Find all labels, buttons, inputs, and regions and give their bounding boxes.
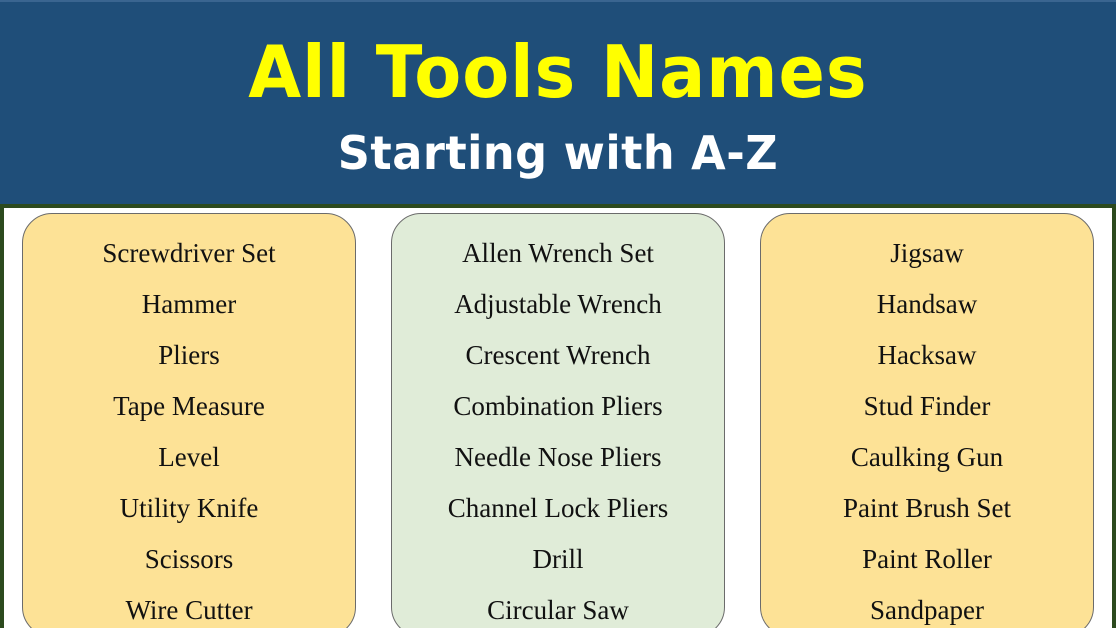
list-item: Circular Saw: [392, 585, 724, 628]
list-item: Allen Wrench Set: [392, 228, 724, 279]
list-item: Handsaw: [761, 279, 1093, 330]
list-item: Stud Finder: [761, 381, 1093, 432]
tools-column-1: Screwdriver Set Hammer Pliers Tape Measu…: [22, 213, 356, 628]
list-item: Sandpaper: [761, 585, 1093, 628]
poster-header: All Tools Names Starting with A-Z: [0, 0, 1116, 208]
page-title: All Tools Names: [248, 36, 867, 108]
list-item: Paint Roller: [761, 534, 1093, 585]
list-item: Tape Measure: [23, 381, 355, 432]
list-item: Needle Nose Pliers: [392, 432, 724, 483]
list-item: Drill: [392, 534, 724, 585]
list-item: Jigsaw: [761, 228, 1093, 279]
list-item: Combination Pliers: [392, 381, 724, 432]
list-item: Crescent Wrench: [392, 330, 724, 381]
columns-container: Screwdriver Set Hammer Pliers Tape Measu…: [0, 208, 1116, 628]
list-item: Wire Cutter: [23, 585, 355, 628]
tools-column-3: Jigsaw Handsaw Hacksaw Stud Finder Caulk…: [760, 213, 1094, 628]
list-item: Utility Knife: [23, 483, 355, 534]
list-item: Screwdriver Set: [23, 228, 355, 279]
tools-column-2: Allen Wrench Set Adjustable Wrench Cresc…: [391, 213, 725, 628]
list-item: Caulking Gun: [761, 432, 1093, 483]
list-item: Level: [23, 432, 355, 483]
list-item: Hacksaw: [761, 330, 1093, 381]
list-item: Scissors: [23, 534, 355, 585]
page-subtitle: Starting with A-Z: [338, 130, 778, 176]
tools-names-poster: All Tools Names Starting with A-Z Screwd…: [0, 0, 1116, 628]
list-item: Channel Lock Pliers: [392, 483, 724, 534]
list-item: Paint Brush Set: [761, 483, 1093, 534]
list-item: Hammer: [23, 279, 355, 330]
list-item: Adjustable Wrench: [392, 279, 724, 330]
list-item: Pliers: [23, 330, 355, 381]
